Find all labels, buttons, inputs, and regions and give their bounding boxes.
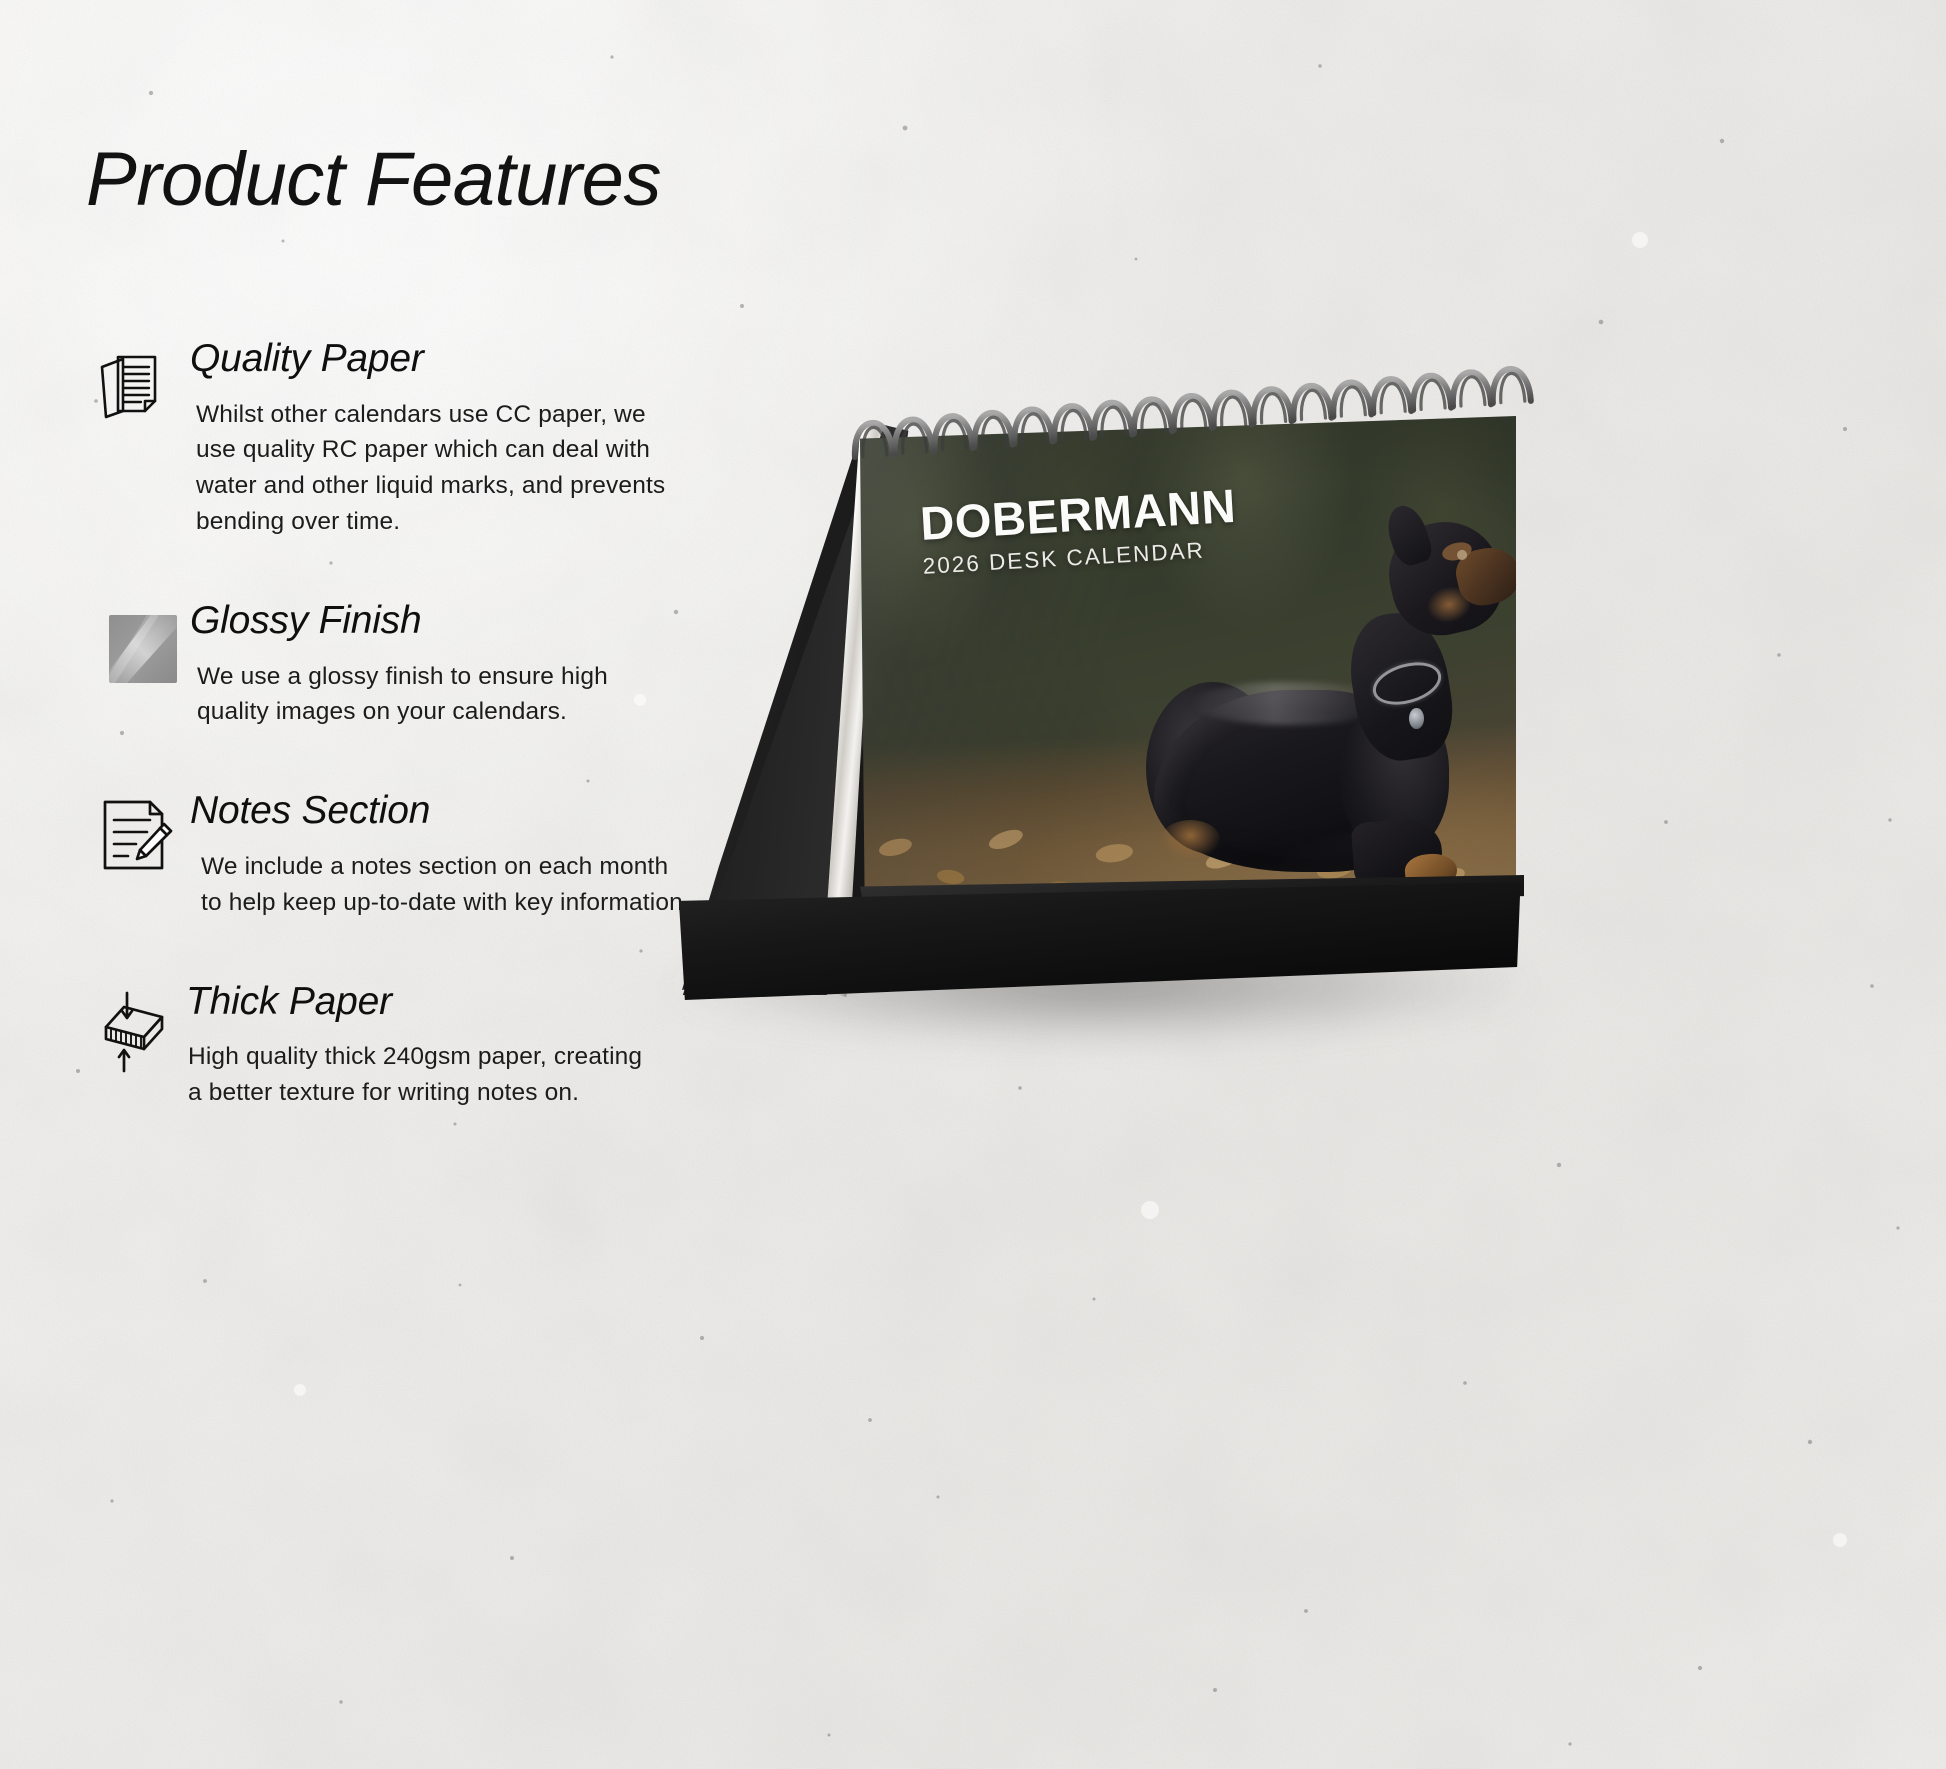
feature-description: High quality thick 240gsm paper, creatin…	[186, 1039, 656, 1111]
note-pencil-icon	[92, 792, 178, 878]
feature-description: We include a notes section on each month…	[190, 849, 695, 921]
desk-calendar-mockup: DOBERMANN 2026 DESK CALENDAR	[660, 370, 1560, 1090]
feature-description: We use a glossy finish to ensure high qu…	[190, 659, 660, 731]
feature-description: Whilst other calendars use CC paper, we …	[190, 397, 685, 540]
stacked-documents-icon	[90, 342, 176, 428]
glossy-swatch-icon	[100, 606, 186, 692]
calendar-cover: DOBERMANN 2026 DESK CALENDAR	[856, 416, 1516, 956]
paper-thickness-icon	[86, 989, 172, 1075]
page-title: Product Features	[86, 140, 786, 220]
page-background: Product Features Quality	[0, 0, 1946, 1769]
